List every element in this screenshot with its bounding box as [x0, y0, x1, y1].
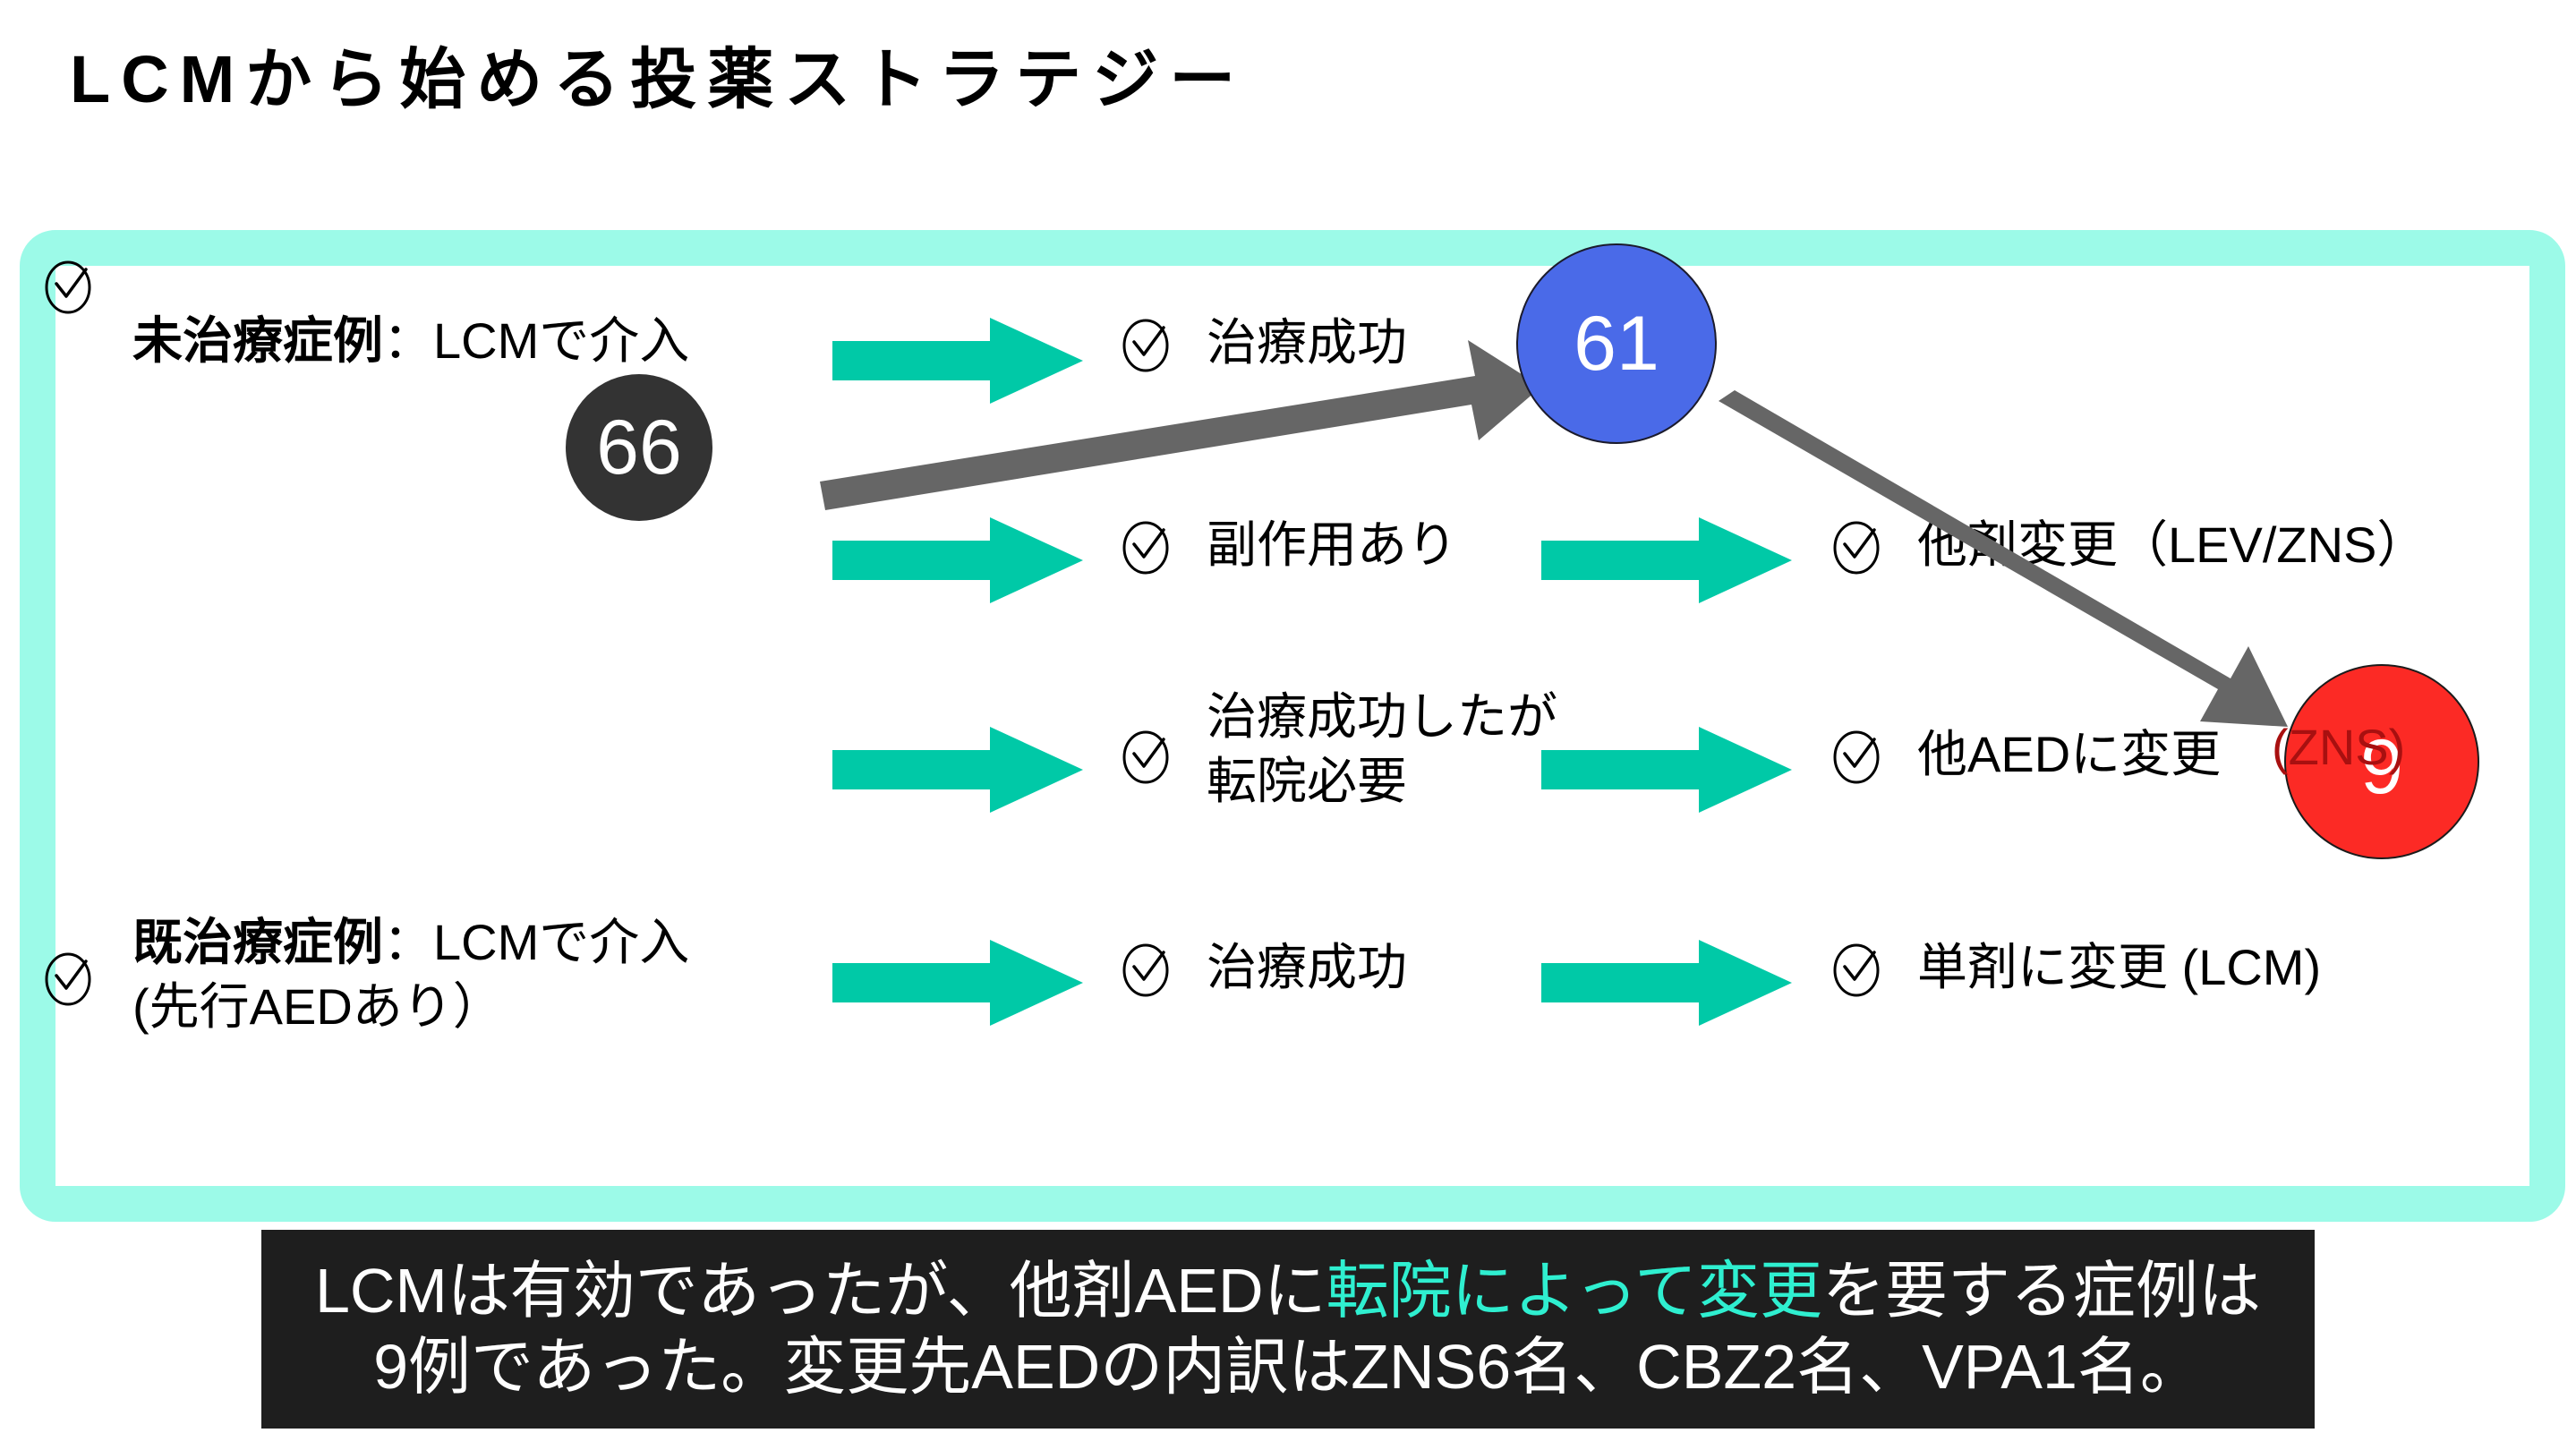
summary-caption-bar: LCMは有効であったが、他剤AEDに転院によって変更を要する症例は 9例であった… [261, 1230, 2315, 1429]
row-adverse-outcome: 副作用あり [1207, 517, 1457, 574]
row-transfer-outcome-line1: 治療成功したが [1207, 689, 1557, 746]
circled-check-icon [1828, 517, 1885, 575]
right-block-arrow-icon [1541, 517, 1792, 603]
row-adverse-result: 他剤変更（LEV/ZNS） [1917, 517, 2427, 574]
page-title: LCMから始める投薬ストラテジー [70, 47, 1246, 113]
right-block-arrow-icon [832, 940, 1083, 1026]
row-pretreated-result: 単剤に変更 (LCM) [1917, 940, 2321, 996]
row-untreated-label-bold: 未治療症例 [132, 312, 383, 369]
caption-line-1-highlight: 転院によって変更 [1326, 1256, 1822, 1326]
row-transfer-result-suffix: (ZNS) [2272, 718, 2405, 776]
circled-check-icon [1117, 517, 1174, 575]
right-block-arrow-icon [832, 318, 1083, 404]
caption-line-2: 9例であった。変更先AEDの内訳はZNS6名、CBZ2名、VPA1名。 [373, 1329, 2203, 1405]
row-transfer-outcome-line2: 転院必要 [1207, 754, 1407, 810]
row-untreated-outcome: 治療成功 [1207, 315, 1407, 371]
row-pretreated-label: 既治療症例：LCMで介入 [132, 915, 689, 971]
right-block-arrow-icon [832, 517, 1083, 603]
right-block-arrow-icon [1541, 727, 1792, 813]
right-block-arrow-icon [832, 727, 1083, 813]
slide-root: LCMから始める投薬ストラテジー 未治療症例：LCMで介入 治療成功 副作用あり… [0, 0, 2576, 1450]
row-pretreated-label-rest: ：LCMで介入 [383, 914, 689, 970]
right-block-arrow-icon [1541, 940, 1792, 1026]
row-untreated-label: 未治療症例：LCMで介入 [132, 313, 689, 370]
row-transfer-result: 他AEDに変更 [1917, 727, 2221, 783]
count-bubble-success-value: 61 [1574, 305, 1659, 382]
count-bubble-total: 66 [566, 374, 712, 521]
caption-line-1-part-a: LCMは有効であったが、他剤AEDに [315, 1256, 1326, 1326]
caption-line-1-part-b: を要する症例は [1822, 1256, 2261, 1326]
circled-check-icon [39, 257, 97, 314]
row-pretreated-label-bold: 既治療症例 [132, 914, 383, 970]
circled-check-icon [1828, 940, 1885, 997]
caption-line-1: LCMは有効であったが、他剤AEDに転院によって変更を要する症例は [315, 1253, 2261, 1329]
circled-check-icon [1117, 940, 1174, 997]
circled-check-icon [1828, 727, 1885, 784]
count-bubble-success: 61 [1516, 243, 1717, 444]
circled-check-icon [39, 949, 97, 1006]
row-pretreated-outcome: 治療成功 [1207, 940, 1407, 996]
count-bubble-total-value: 66 [596, 409, 682, 486]
circled-check-icon [1117, 315, 1174, 372]
row-untreated-label-rest: ：LCMで介入 [383, 312, 689, 369]
circled-check-icon [1117, 727, 1174, 784]
row-pretreated-label-line2: (先行AEDあり） [132, 979, 503, 1036]
